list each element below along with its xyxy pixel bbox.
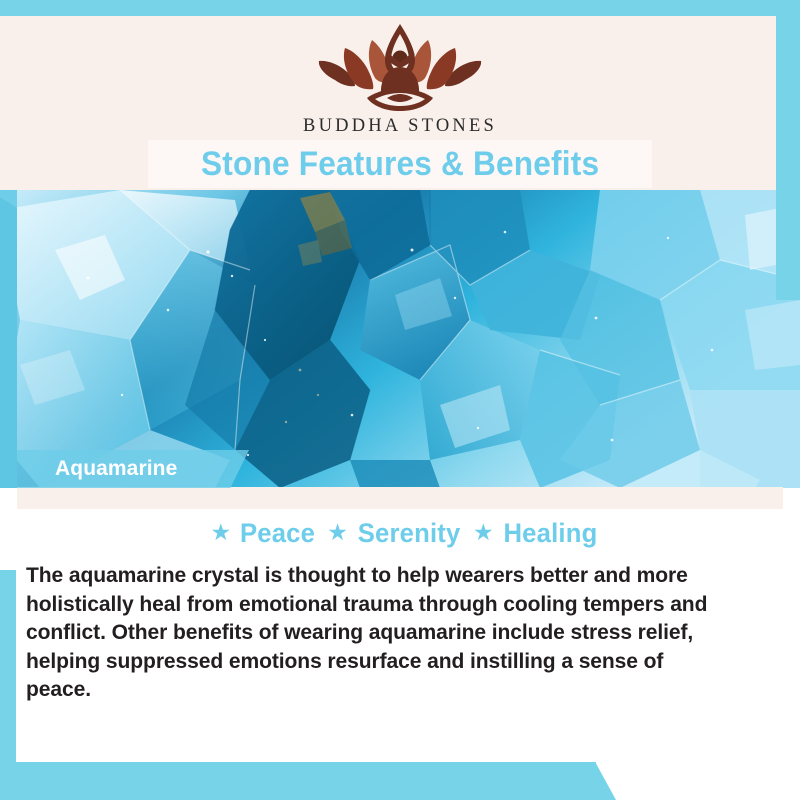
star-icon: ★ — [327, 521, 348, 544]
brand-name: BUDDHA STONES — [0, 116, 800, 137]
stone-name-label: Aquamarine — [17, 450, 249, 488]
keyword-serenity: Serenity — [358, 518, 461, 549]
keyword-list: ★Peace★Serenity★Healing — [0, 518, 800, 549]
frame-bottom-bar — [0, 762, 596, 800]
star-icon: ★ — [210, 521, 231, 544]
description-text: The aquamarine crystal is thought to hel… — [26, 561, 732, 704]
page-title: Stone Features & Benefits — [201, 145, 599, 184]
frame-right-bar — [776, 0, 800, 196]
keyword-peace: Peace — [240, 518, 315, 549]
frame-top-bar — [0, 0, 800, 16]
keyword-healing: Healing — [503, 518, 597, 549]
brand-logo: BUDDHA STONES — [0, 18, 800, 137]
aquamarine-crystal-photo — [0, 190, 800, 488]
content-area: ★Peace★Serenity★Healing The aquamarine c… — [0, 509, 800, 800]
photo-left-accent-bar — [0, 190, 17, 488]
lotus-meditation-figure-icon — [0, 18, 800, 114]
photo-right-accent-bar — [776, 190, 800, 300]
star-icon: ★ — [473, 521, 494, 544]
divider-strip — [17, 487, 783, 509]
stone-name: Aquamarine — [55, 450, 177, 488]
poster-root: BUDDHA STONES Stone Features & Benefits — [0, 0, 800, 800]
title-banner: Stone Features & Benefits — [148, 140, 652, 188]
